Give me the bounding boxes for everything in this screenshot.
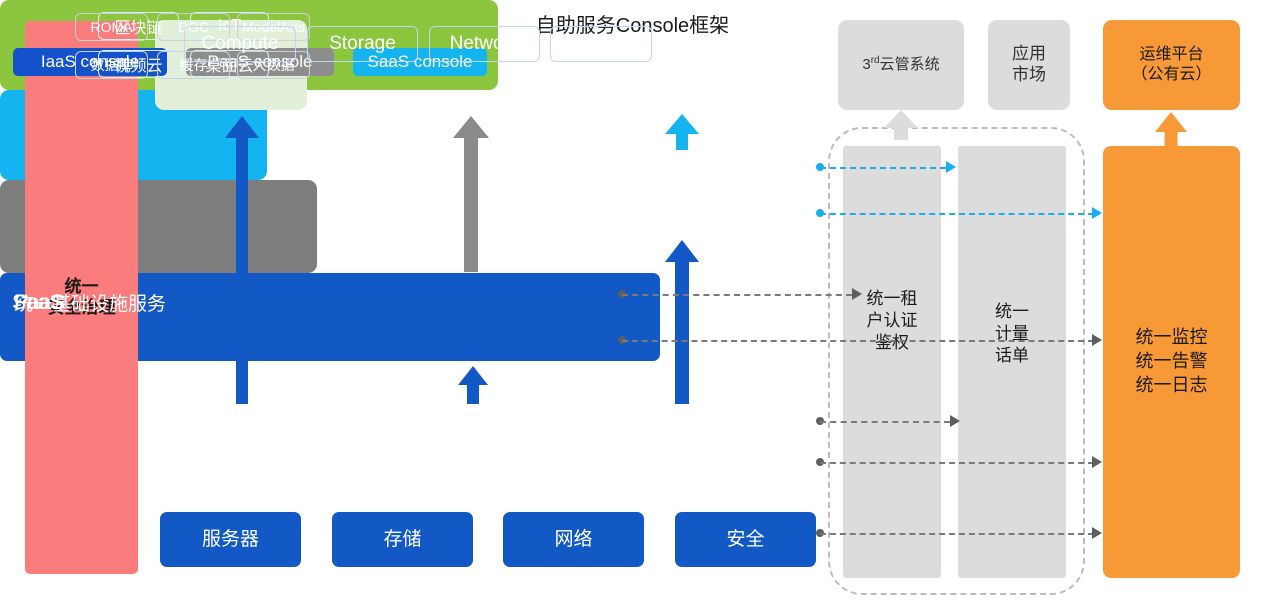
connector-paas-to-ops-column — [622, 340, 1094, 342]
arrow-shared-to-third-party — [884, 110, 918, 140]
connector-saas-to-ops-column — [820, 213, 1094, 215]
arrowhead-saas-to-ops-column — [1092, 207, 1102, 219]
third-party-cloud-mgmt-label: 3rd云管系统 — [862, 55, 939, 74]
shared-service-tenant-auth-column: 统一租户认证鉴权 — [843, 146, 941, 578]
infra-service-network[interactable]: Network — [429, 26, 540, 62]
ops-platform-public-cloud-label: 运维平台（公有云） — [1131, 45, 1211, 84]
unified-infrastructure-label: 统一基础设施服务 — [14, 0, 166, 605]
connector-paas-to-tenant-auth — [622, 294, 852, 296]
ops-platform-public-cloud-block: 运维平台（公有云） — [1103, 20, 1240, 110]
unified-infrastructure-block: 统一基础设施服务 Compute Storage Network CCE — [0, 273, 660, 361]
arrowhead-paas-to-tenant-auth — [852, 288, 862, 300]
arrow-infra-to-paas — [458, 366, 488, 404]
shared-service-metering-billing-label: 统一计量话单 — [958, 301, 1066, 367]
unified-ops-monitoring-label: 统一监控统一告警统一日志 — [1136, 326, 1208, 397]
infra-service-compute[interactable]: Compute — [184, 26, 296, 62]
connector-resources-to-ops-column — [820, 533, 1094, 535]
arrow-infra-to-saas — [665, 240, 699, 404]
infra-service-storage[interactable]: Storage — [307, 26, 418, 62]
third-party-cloud-mgmt-block: 3rd云管系统 — [838, 20, 964, 110]
resource-network[interactable]: 网络 — [503, 512, 644, 567]
arrowhead-infra-to-tenant-auth — [950, 415, 960, 427]
resource-server[interactable]: 服务器 — [160, 512, 301, 567]
arrow-ops-column-to-ops-platform — [1155, 112, 1187, 148]
app-market-label: 应用市场 — [1012, 44, 1046, 85]
arrowhead-paas-to-ops-column — [1092, 334, 1102, 346]
connector-saas-to-tenant-auth — [820, 167, 946, 169]
resource-storage[interactable]: 存储 — [332, 512, 473, 567]
app-market-block: 应用市场 — [988, 20, 1070, 110]
arrowhead-infra-to-ops-column — [1092, 456, 1102, 468]
architecture-diagram: 统一安全治理 API网关 自助服务Console框架 IaaS console … — [0, 0, 1265, 605]
infra-service-cce[interactable]: CCE — [550, 26, 652, 62]
arrowhead-resources-to-ops-column — [1092, 527, 1102, 539]
resource-security[interactable]: 安全 — [675, 512, 816, 567]
arrow-paas-to-console — [453, 116, 489, 272]
connector-infra-to-tenant-auth — [820, 421, 950, 423]
connector-infra-to-ops-column — [820, 462, 1094, 464]
arrowhead-saas-to-tenant-auth — [946, 161, 956, 173]
arrow-saas-to-console — [665, 114, 699, 150]
unified-ops-monitoring-column: 统一监控统一告警统一日志 — [1103, 146, 1240, 578]
shared-service-metering-billing-column: 统一计量话单 — [958, 146, 1066, 578]
arrow-infra-to-api-gateway — [225, 116, 259, 404]
